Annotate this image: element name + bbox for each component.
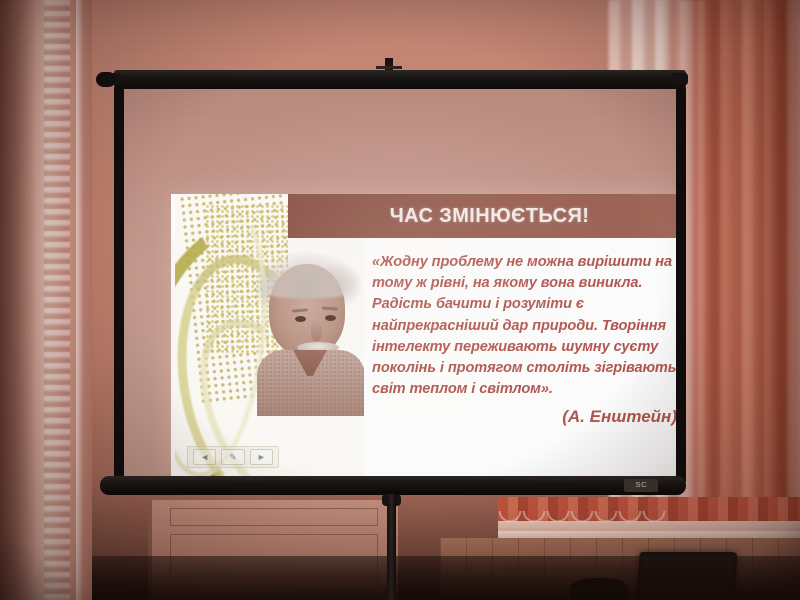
next-slide-button[interactable]: ► bbox=[250, 449, 273, 465]
screen-black-frame: ЧАС ЗМІНЮЄТЬСЯ! bbox=[114, 87, 686, 482]
pilaster-shadow bbox=[0, 0, 36, 600]
portrait-eye-right bbox=[325, 315, 336, 321]
screen-roller-casing[interactable] bbox=[114, 70, 686, 88]
roller-end-cap-right bbox=[672, 73, 688, 85]
quote-line: світ теплом і світлом». bbox=[372, 379, 676, 400]
screen-brand-logo-text: SC bbox=[635, 482, 647, 489]
quote-line: Радість бачити і розуміти є bbox=[372, 294, 676, 315]
projected-slide: ЧАС ЗМІНЮЄТЬСЯ! bbox=[171, 194, 676, 480]
slideshow-nav-toolbar[interactable]: ◄ ✎ ► bbox=[187, 446, 279, 468]
screen-projection-surface: ЧАС ЗМІНЮЄТЬСЯ! bbox=[124, 89, 676, 480]
valance-scallop-trim bbox=[498, 511, 800, 525]
quote-line: інтелекту переживають шумну суєту bbox=[372, 337, 676, 358]
quote-line: поколінь і протягом століть зігрівають bbox=[372, 358, 676, 379]
portrait-eyebrow-left bbox=[292, 308, 308, 312]
slide-quote-block: «Жодну проблему не можна вирішити на том… bbox=[364, 238, 676, 480]
portrait-eyebrow-right bbox=[322, 306, 338, 310]
door-panel-upper bbox=[170, 508, 378, 526]
pilaster-highlight-edge bbox=[76, 0, 83, 600]
portrait-nose bbox=[311, 319, 322, 341]
photo-scene: ЧАС ЗМІНЮЄТЬСЯ! bbox=[0, 0, 800, 600]
foreground-shadow-band bbox=[0, 556, 800, 600]
decorative-wall-pilaster bbox=[0, 0, 92, 600]
weight-bar-end-cap-left bbox=[96, 72, 116, 87]
quote-line: «Жодну проблему не можна вирішити на bbox=[372, 252, 676, 273]
portrait-eye-left bbox=[295, 316, 306, 322]
screen-weight-bar[interactable]: SC bbox=[100, 476, 686, 495]
projection-screen-assembly: ЧАС ЗМІНЮЄТЬСЯ! bbox=[100, 70, 686, 498]
pen-annotation-button[interactable]: ✎ bbox=[221, 449, 244, 465]
slide-title: ЧАС ЗМІНЮЄТЬСЯ! bbox=[288, 194, 676, 238]
screen-brand-logo: SC bbox=[624, 479, 658, 492]
pilaster-bead-moulding bbox=[44, 0, 70, 600]
portrait-hair-top bbox=[259, 252, 355, 298]
previous-slide-button[interactable]: ◄ bbox=[193, 449, 216, 465]
screen-stand-pole bbox=[387, 494, 396, 600]
albert-einstein-portrait bbox=[255, 246, 367, 416]
quote-line: тому ж рівні, на якому вона виникла. bbox=[372, 273, 676, 294]
quote-attribution: (А. Енштейн) bbox=[372, 400, 676, 430]
quote-line: найпрекрасніший дар природи. Творіння bbox=[372, 316, 676, 337]
